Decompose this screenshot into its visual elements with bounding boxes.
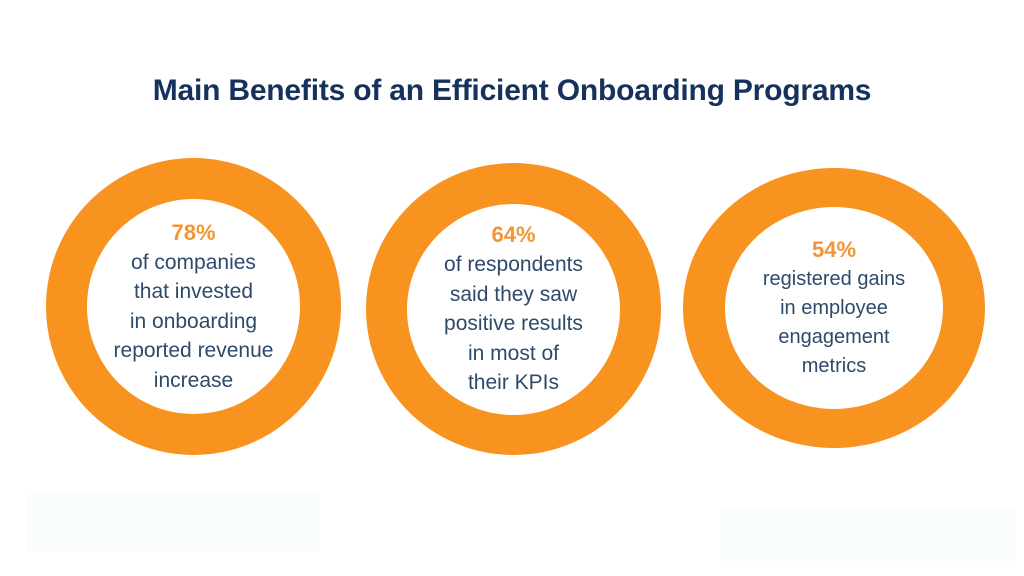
stat-line: said they saw bbox=[444, 280, 583, 310]
stat-line: in onboarding bbox=[114, 307, 274, 337]
background-plate-right bbox=[721, 506, 1016, 561]
donut-content-3: 54% registered gains in employee engagem… bbox=[725, 207, 943, 409]
stat-line: engagement bbox=[763, 323, 905, 352]
stat-description-2: of respondents said they saw positive re… bbox=[444, 250, 583, 398]
stat-line: metrics bbox=[763, 352, 905, 381]
stat-value-2: 64% bbox=[491, 220, 535, 250]
stat-description-3: registered gains in employee engagement … bbox=[763, 265, 905, 381]
stat-value-1: 78% bbox=[171, 218, 215, 248]
stat-line: of companies bbox=[114, 248, 274, 278]
donut-ring-2: 64% of respondents said they saw positiv… bbox=[366, 163, 661, 455]
stat-line: in employee bbox=[763, 294, 905, 323]
background-plate-left bbox=[26, 490, 320, 552]
infographic-canvas: Main Benefits of an Efficient Onboarding… bbox=[0, 0, 1024, 576]
stat-value-3: 54% bbox=[812, 235, 856, 265]
stat-line: registered gains bbox=[763, 265, 905, 294]
stat-line: their KPIs bbox=[444, 368, 583, 398]
stat-line: that invested bbox=[114, 277, 274, 307]
stat-line: reported revenue bbox=[114, 336, 274, 366]
stat-line: of respondents bbox=[444, 250, 583, 280]
stat-line: increase bbox=[114, 366, 274, 396]
donut-content-2: 64% of respondents said they saw positiv… bbox=[407, 204, 620, 415]
page-title: Main Benefits of an Efficient Onboarding… bbox=[0, 72, 1024, 110]
donut-ring-3: 54% registered gains in employee engagem… bbox=[683, 168, 985, 448]
donut-ring-1: 78% of companies that invested in onboar… bbox=[46, 158, 341, 455]
stat-description-1: of companies that invested in onboarding… bbox=[114, 248, 274, 396]
stat-line: positive results bbox=[444, 309, 583, 339]
stat-line: in most of bbox=[444, 339, 583, 369]
donut-content-1: 78% of companies that invested in onboar… bbox=[87, 199, 300, 414]
